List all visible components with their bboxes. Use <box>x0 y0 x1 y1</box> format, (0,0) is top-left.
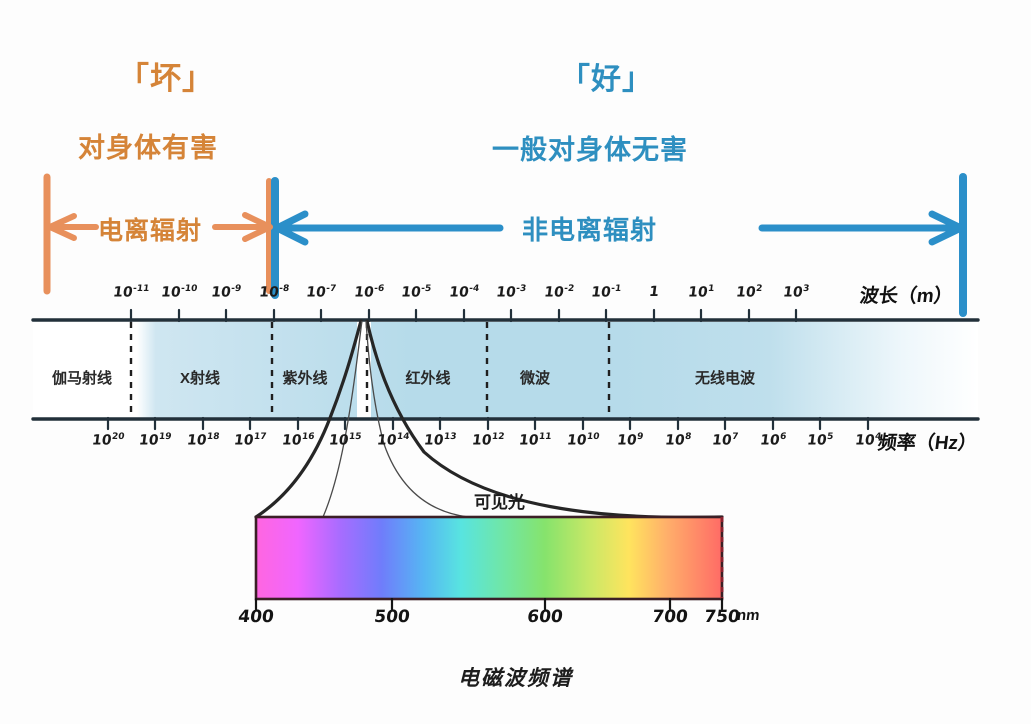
axis-tick-label: 102 <box>735 284 763 301</box>
figure-title: 电磁波频谱 <box>0 662 1031 692</box>
axis-tick-label: 10-9 <box>210 284 242 301</box>
ionizing-radiation-label: 电离辐射 <box>98 211 202 247</box>
non-ionizing-radiation-label: 非电离辐射 <box>522 210 657 247</box>
axis-tick-label: 1011 <box>518 432 552 449</box>
frequency-axis-name: 频率（Hz） <box>876 428 979 455</box>
axis-tick-label: 10-11 <box>112 284 150 301</box>
axis-tick-label: 103 <box>782 284 810 301</box>
axis-tick-label: 1012 <box>471 432 505 449</box>
wavelength-axis-name: 波长（m） <box>858 281 954 308</box>
visible-light-gap <box>357 322 371 418</box>
axis-tick-label: 108 <box>664 432 692 449</box>
spectrum-band-fill <box>33 322 978 418</box>
visible-light-tick-label: 400 <box>237 607 275 627</box>
band-name: 紫外线 <box>282 367 327 388</box>
axis-tick-label: 1017 <box>233 432 267 449</box>
axis-tick-label: 107 <box>711 432 739 449</box>
axis-tick-label: 10-8 <box>258 284 290 301</box>
axis-tick-label: 10-1 <box>590 284 622 301</box>
axis-tick-label: 10-2 <box>543 284 575 301</box>
axis-tick-label: 1020 <box>91 432 125 449</box>
axis-tick-label: 10-3 <box>495 284 527 301</box>
visible-light-tick-label: 750 <box>703 607 741 627</box>
visible-light-tick-marks <box>256 599 722 609</box>
axis-tick-label: 10-5 <box>400 284 432 301</box>
visible-light-tick-label: 600 <box>526 607 564 627</box>
good-category-subtitle: 一般对身体无害 <box>492 128 688 167</box>
axis-tick-label: 1019 <box>138 432 172 449</box>
band-name: X射线 <box>180 367 220 388</box>
axis-tick-label: 1010 <box>566 432 600 449</box>
visible-light-bar <box>256 517 722 599</box>
axis-tick-label: 1014 <box>376 432 410 449</box>
bad-category-subtitle: 对身体有害 <box>78 126 218 165</box>
spectrum-artwork <box>0 0 1031 724</box>
bad-category-quote: 「坏」 <box>118 53 214 98</box>
axis-tick-label: 1015 <box>328 432 362 449</box>
frequency-axis-ticks <box>108 418 868 429</box>
axis-tick-label: 10-4 <box>448 284 480 301</box>
visible-light-tick-label: 500 <box>373 607 411 627</box>
electromagnetic-spectrum-figure: 「坏」 对身体有害 「好」 一般对身体无害 电离辐射 非电离辐射 <box>0 0 1031 724</box>
axis-tick-label: 1018 <box>186 432 220 449</box>
band-name: 伽马射线 <box>52 367 112 388</box>
axis-tick-label: 10-6 <box>353 284 385 301</box>
axis-tick-label: 10-10 <box>160 284 198 301</box>
good-category-quote: 「好」 <box>560 54 653 98</box>
axis-tick-label: 105 <box>806 432 834 449</box>
visible-light-tick-label: 700 <box>651 607 689 627</box>
band-name: 无线电波 <box>695 367 755 388</box>
visible-light-label: 可见光 <box>474 488 525 513</box>
nanometre-unit-label: nm <box>736 607 761 624</box>
wavelength-axis-ticks <box>131 310 796 321</box>
axis-tick-label: 101 <box>687 284 715 301</box>
axis-tick-label: 10-7 <box>305 284 337 301</box>
axis-tick-label: 109 <box>616 432 644 449</box>
axis-tick-label: 1 <box>648 284 660 300</box>
axis-tick-label: 1016 <box>281 432 315 449</box>
axis-tick-label: 106 <box>759 432 787 449</box>
band-name: 红外线 <box>405 367 450 388</box>
axis-tick-label: 1013 <box>423 432 457 449</box>
band-name: 微波 <box>520 367 550 388</box>
